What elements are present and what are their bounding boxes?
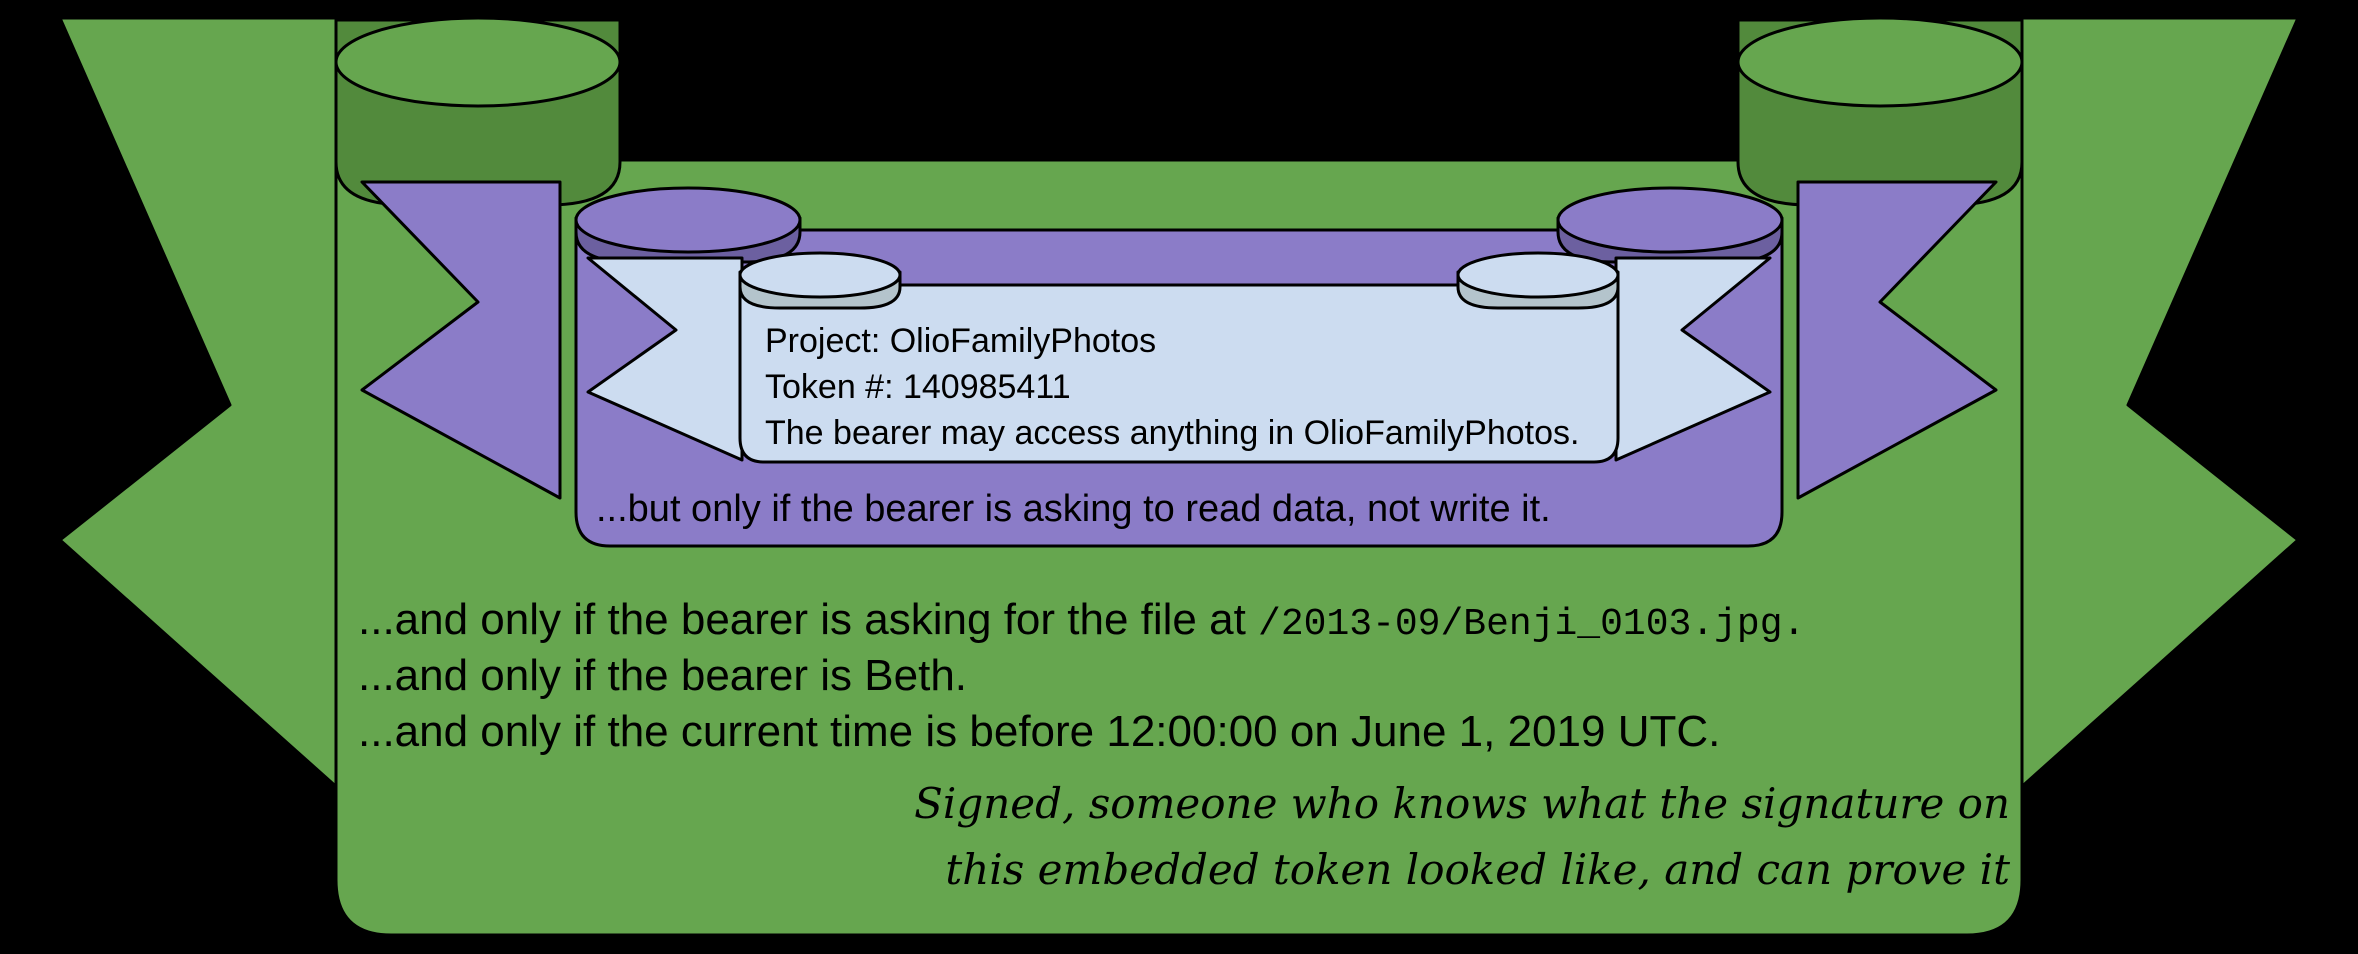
token-line-project: Project: OlioFamilyPhotos bbox=[765, 322, 1156, 360]
token-line-scope: The bearer may access anything in OlioFa… bbox=[765, 414, 1579, 452]
caveat-file-path-line: ...and only if the bearer is asking for … bbox=[358, 595, 1805, 646]
token-line-number: Token #: 140985411 bbox=[765, 368, 1071, 406]
blue-left-roll-cap bbox=[740, 253, 900, 297]
purple-right-roll-cap bbox=[1558, 188, 1782, 252]
purple-left-roll-cap bbox=[576, 188, 800, 252]
blue-right-roll-cap bbox=[1458, 253, 1618, 297]
caveat-read-only: ...but only if the bearer is asking to r… bbox=[596, 488, 1551, 530]
caveat-expiry-time: ...and only if the current time is befor… bbox=[358, 707, 1720, 756]
signature-line-2: this embedded token looked like, and can… bbox=[945, 845, 2010, 894]
middle-caveat-text: ...but only if the bearer is asking to r… bbox=[596, 488, 1551, 530]
green-right-roll-cap bbox=[1738, 18, 2022, 106]
green-right-tail bbox=[2018, 18, 2298, 790]
diagram-canvas: Project: OlioFamilyPhotos Token #: 14098… bbox=[0, 0, 2358, 954]
caveat-file-prefix: ...and only if the bearer is asking for … bbox=[358, 595, 1258, 644]
caveat-file-path: /2013-09/Benji_0103.jpg. bbox=[1258, 603, 1805, 646]
signature-line-1: Signed, someone who knows what the signa… bbox=[914, 779, 2010, 828]
green-left-tail bbox=[60, 18, 340, 790]
caveat-bearer-identity: ...and only if the bearer is Beth. bbox=[358, 651, 967, 700]
green-left-roll-cap bbox=[336, 18, 620, 106]
nested-scroll-illustration: Project: OlioFamilyPhotos Token #: 14098… bbox=[0, 0, 2358, 954]
